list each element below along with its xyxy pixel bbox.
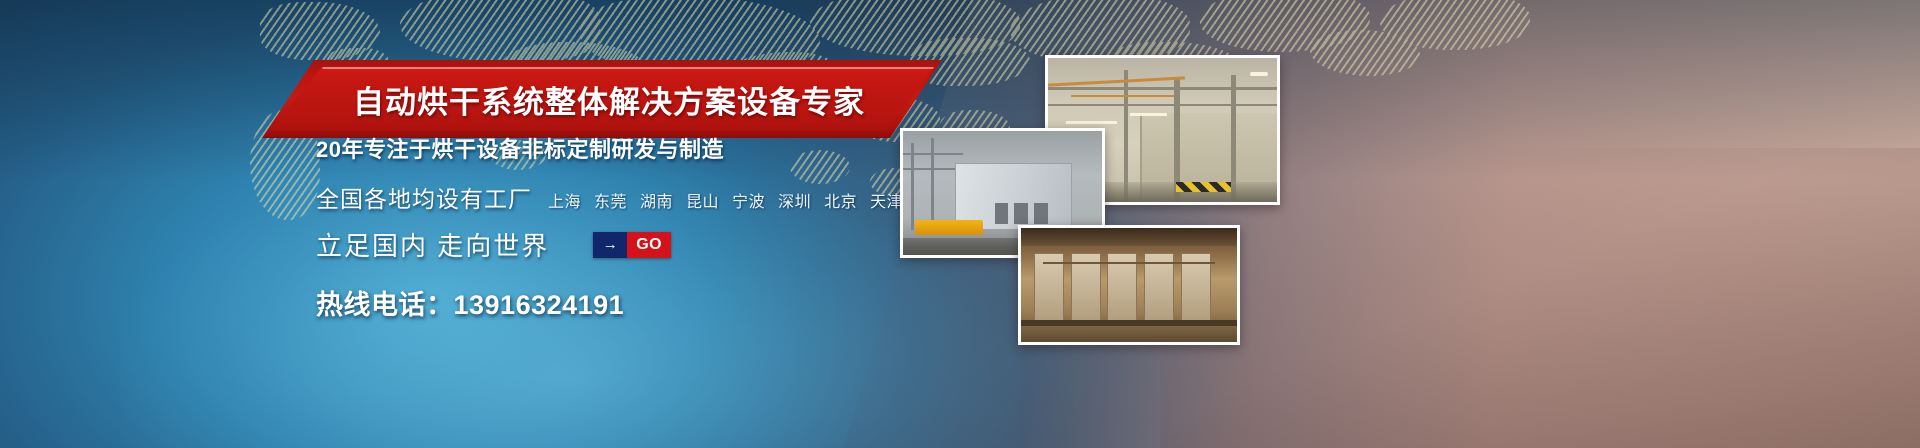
go-button[interactable]: → GO <box>593 232 671 258</box>
city-item: 湖南 <box>640 188 673 212</box>
city-item: 深圳 <box>778 188 811 212</box>
photo-pipe <box>1071 95 1174 97</box>
factories-title: 全国各地均设有工厂 <box>316 180 532 214</box>
photo-hazard-stripe <box>1176 182 1231 192</box>
photo-light <box>1066 121 1116 124</box>
photo-transfer-cart <box>915 220 983 235</box>
photo-light <box>1250 72 1268 76</box>
photo-beam <box>1048 104 1277 106</box>
photo-line-equipment <box>1018 225 1240 345</box>
photo-light <box>1130 113 1167 116</box>
photo-beam <box>903 153 963 155</box>
headline-ribbon: 自动烘干系统整体解决方案设备专家 <box>262 60 942 138</box>
photo-door <box>1014 203 1028 224</box>
city-list: 上海 东莞 湖南 昆山 宁波 深圳 北京 天津 <box>548 188 903 212</box>
photo-door <box>995 203 1009 224</box>
city-item: 昆山 <box>686 188 719 212</box>
photo-beam <box>903 168 955 170</box>
photo-door <box>1034 203 1048 224</box>
photo-beam <box>1048 87 1277 90</box>
promo-banner: 自动烘干系统整体解决方案设备专家 20年专注于烘干设备非标定制研发与制造 全国各… <box>0 0 1920 448</box>
arrow-right-icon: → <box>593 232 627 258</box>
factories-row: 全国各地均设有工厂 上海 东莞 湖南 昆山 宁波 深圳 北京 天津 <box>316 180 956 214</box>
slogan-row: 立足国内 走向世界 → GO <box>316 226 956 263</box>
subheadline-text: 20年专注于烘干设备非标定制研发与制造 <box>316 132 956 164</box>
hotline-text: 热线电话：13916324191 <box>316 283 956 322</box>
city-item: 上海 <box>548 188 581 212</box>
photo-column <box>931 138 934 230</box>
photo-rail <box>1021 320 1237 326</box>
photo-ceiling <box>1021 228 1237 246</box>
photo-beam <box>1043 262 1216 264</box>
go-button-label: GO <box>627 232 671 258</box>
headline-text: 自动烘干系统整体解决方案设备专家 <box>262 60 942 138</box>
city-item: 东莞 <box>594 188 627 212</box>
city-item: 天津 <box>870 188 903 212</box>
slogan-text: 立足国内 走向世界 <box>316 226 549 263</box>
city-item: 宁波 <box>732 188 765 212</box>
banner-text-block: 20年专注于烘干设备非标定制研发与制造 全国各地均设有工厂 上海 东莞 湖南 昆… <box>316 132 956 322</box>
photo-column <box>911 143 914 230</box>
city-item: 北京 <box>824 188 857 212</box>
